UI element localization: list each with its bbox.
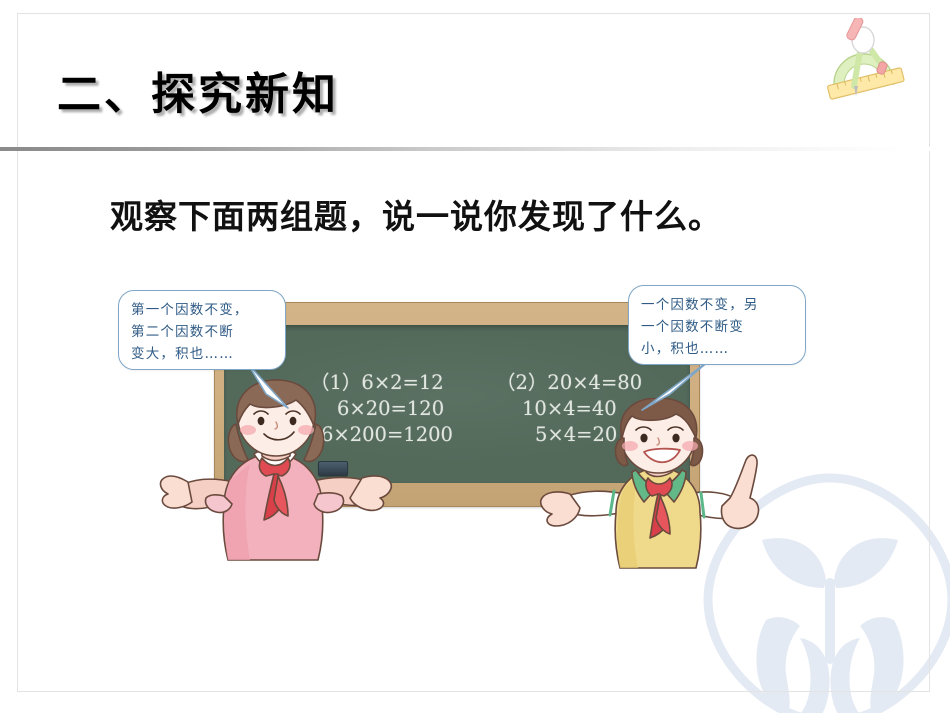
- page-title: 二、探究新知: [57, 58, 339, 122]
- compass-protractor-ruler-icon: [818, 18, 914, 100]
- bubble-text-line: 一个因数不断变: [641, 316, 795, 338]
- bubble-text-line: 小，积也……: [641, 338, 795, 360]
- slide-canvas: 二、探究新知 观察下面两组题，说一说你发现了什么。 （1）6×2=12 6×20…: [0, 0, 950, 713]
- boy-student-illustration: [540, 398, 772, 570]
- bubble-text-line: 一个因数不变，另: [641, 294, 795, 316]
- title-divider: [0, 147, 950, 151]
- bubble-text-line: 第二个因数不断: [131, 321, 275, 343]
- girl-student-illustration: [158, 378, 394, 563]
- question-prompt: 观察下面两组题，说一说你发现了什么。: [110, 190, 722, 238]
- bubble-text-line: 变大，积也……: [131, 343, 275, 365]
- speech-bubble-boy: 一个因数不变，另 一个因数不断变 小，积也……: [628, 285, 806, 365]
- speech-bubble-girl: 第一个因数不变， 第二个因数不断 变大，积也……: [118, 290, 286, 370]
- equation-line: （2）20×4=80: [496, 370, 642, 396]
- bubble-text-line: 第一个因数不变，: [131, 299, 275, 321]
